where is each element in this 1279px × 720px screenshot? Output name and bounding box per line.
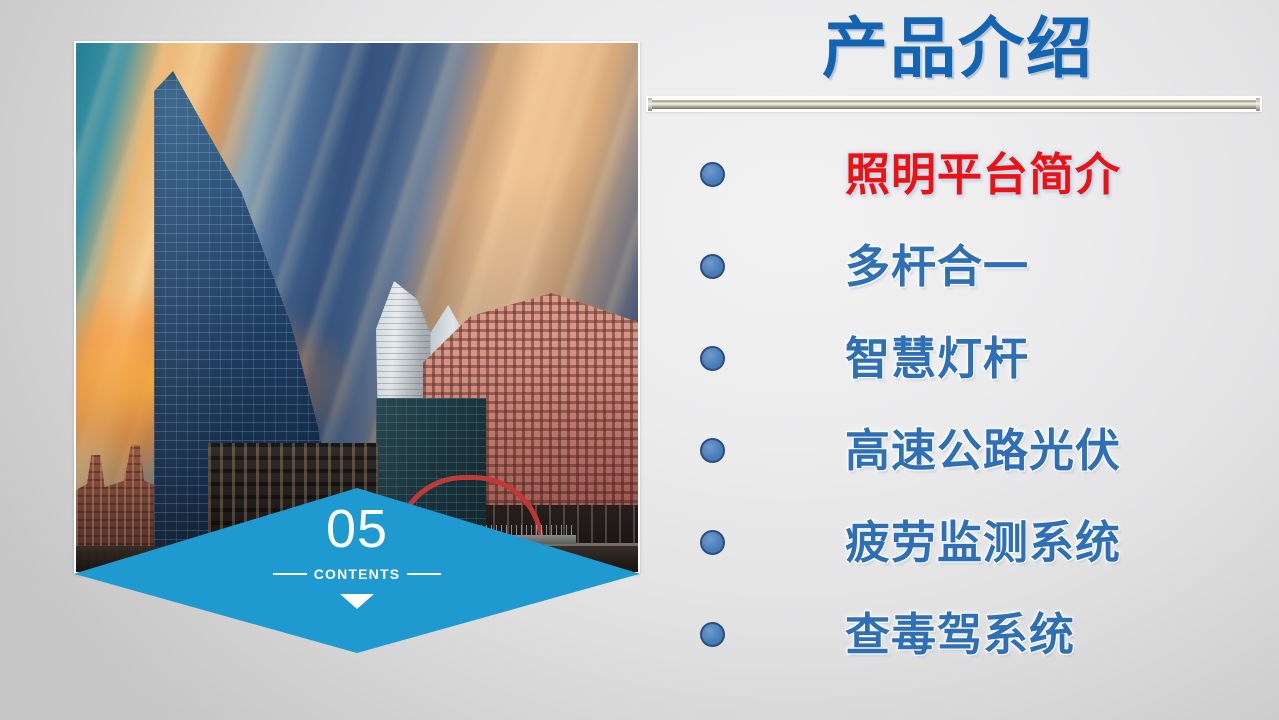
page-title: 产品介绍: [648, 6, 1268, 92]
filled-circle-bullet-icon: [700, 162, 725, 187]
filled-circle-bullet-icon: [700, 438, 725, 463]
divider-cap-right-icon: [1256, 98, 1260, 111]
filled-circle-bullet-icon: [700, 254, 725, 279]
list-item[interactable]: 智慧灯杆: [700, 312, 1260, 404]
filled-circle-bullet-icon: [700, 346, 725, 371]
list-item-label: 查毒驾系统: [845, 612, 1260, 657]
title-divider: [646, 96, 1262, 112]
photo-vignette: [76, 43, 638, 572]
list-item-label: 智慧灯杆: [845, 336, 1260, 381]
list-item[interactable]: 多杆合一: [700, 220, 1260, 312]
caret-down-icon: [340, 594, 374, 609]
list-item[interactable]: 照明平台简介: [700, 128, 1260, 220]
list-item-label: 高速公路光伏: [845, 428, 1260, 473]
filled-circle-bullet-icon: [700, 622, 725, 647]
cityscape-photo: [76, 43, 638, 572]
photo-frame: [74, 41, 640, 574]
list-item[interactable]: 查毒驾系统: [700, 588, 1260, 680]
divider-bar: [652, 100, 1256, 109]
presentation-slide: 05 CONTENTS 产品介绍 照明平台简介 多杆合一 智慧灯杆: [0, 0, 1279, 720]
list-item[interactable]: 高速公路光伏: [700, 404, 1260, 496]
list-item-label: 多杆合一: [845, 244, 1260, 289]
filled-circle-bullet-icon: [700, 530, 725, 555]
list-item-label: 疲劳监测系统: [845, 520, 1260, 565]
agenda-list: 照明平台简介 多杆合一 智慧灯杆 高速公路光伏 疲劳监测系统 查毒驾系统: [700, 128, 1260, 680]
list-item-label: 照明平台简介: [845, 152, 1260, 197]
list-item[interactable]: 疲劳监测系统: [700, 496, 1260, 588]
